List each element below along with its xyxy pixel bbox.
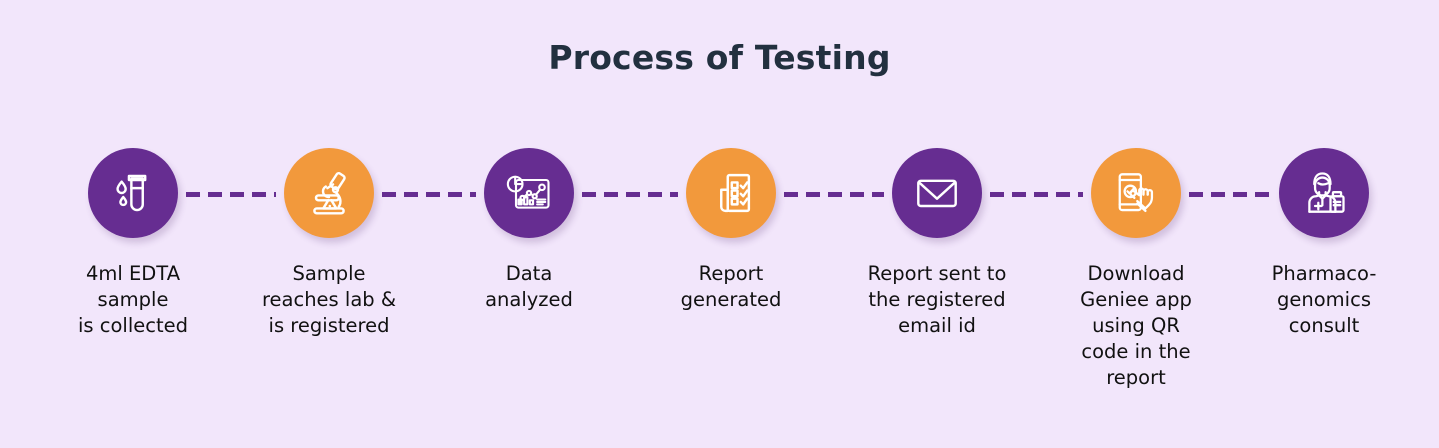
step-4-icon-circle — [686, 148, 776, 238]
process-steps-row: 4ml EDTA sample is collected Sample reac… — [0, 148, 1439, 448]
envelope-email-icon — [911, 167, 963, 219]
step-6-icon-circle — [1091, 148, 1181, 238]
process-step-3: Data analyzed — [431, 148, 627, 313]
microscope-icon — [303, 167, 355, 219]
step-7-icon-circle — [1279, 148, 1369, 238]
step-4-label: Report generated — [641, 261, 821, 313]
process-step-1: 4ml EDTA sample is collected — [35, 148, 231, 339]
step-3-icon-circle — [484, 148, 574, 238]
process-step-4: Report generated — [633, 148, 829, 313]
process-step-6: Download Geniee app using QR code in the… — [1038, 148, 1234, 391]
step-2-icon-circle — [284, 148, 374, 238]
report-checklist-icon — [705, 167, 757, 219]
step-5-label: Report sent to the registered email id — [847, 261, 1027, 339]
process-step-2: Sample reaches lab & is registered — [231, 148, 427, 339]
step-3-label: Data analyzed — [439, 261, 619, 313]
process-step-7: Pharmaco- genomics consult — [1226, 148, 1422, 339]
blood-sample-tube-icon — [107, 167, 159, 219]
step-6-label: Download Geniee app using QR code in the… — [1046, 261, 1226, 391]
data-analytics-chart-icon — [503, 167, 555, 219]
hand-tap-smartphone-icon — [1110, 167, 1162, 219]
process-step-5: Report sent to the registered email id — [839, 148, 1035, 339]
step-7-label: Pharmaco- genomics consult — [1234, 261, 1414, 339]
page-title: Process of Testing — [0, 38, 1439, 78]
process-of-testing-infographic: Process of Testing 4ml EDTA sample is co… — [0, 0, 1439, 448]
step-5-icon-circle — [892, 148, 982, 238]
step-1-label: 4ml EDTA sample is collected — [43, 261, 223, 339]
pharmacist-medicine-icon — [1298, 167, 1350, 219]
step-2-label: Sample reaches lab & is registered — [239, 261, 419, 339]
step-1-icon-circle — [88, 148, 178, 238]
